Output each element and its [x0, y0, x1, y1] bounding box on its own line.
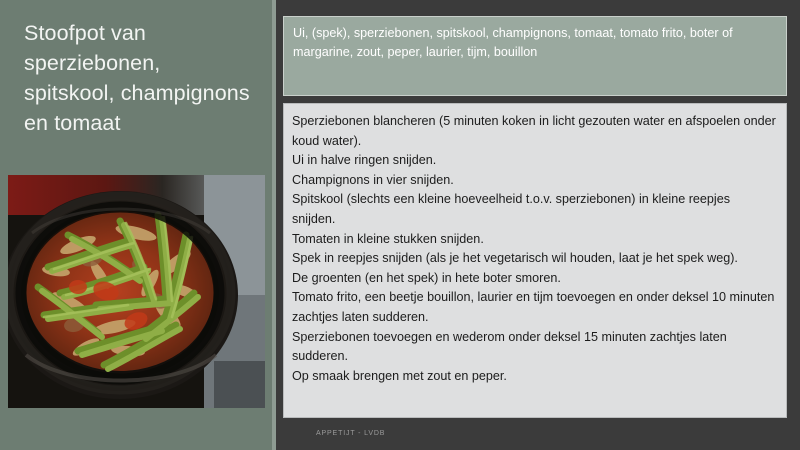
- recipe-photo-image: [8, 175, 265, 408]
- instruction-step: Tomato frito, een beetje bouillon, lauri…: [292, 288, 776, 327]
- instruction-step: Op smaak brengen met zout en peper.: [292, 367, 776, 387]
- instruction-step: Spitskool (slechts een kleine hoeveelhei…: [292, 190, 776, 229]
- recipe-photo: [8, 175, 265, 408]
- instruction-step: Tomaten in kleine stukken snijden.: [292, 230, 776, 250]
- instruction-step: De groenten (en het spek) in hete boter …: [292, 269, 776, 289]
- instruction-step: Sperziebonen blancheren (5 minuten koken…: [292, 112, 776, 151]
- slide-footer: APPETIJT - LVDB: [316, 430, 385, 437]
- instruction-step: Spek in reepjes snijden (als je het vege…: [292, 249, 776, 269]
- instructions-text: Sperziebonen blancheren (5 minuten koken…: [292, 112, 776, 386]
- instruction-step: Sperziebonen toevoegen en wederom onder …: [292, 328, 776, 367]
- slide: Stoofpot van sperziebonen, spitskool, ch…: [0, 0, 800, 450]
- instructions-box: Sperziebonen blancheren (5 minuten koken…: [283, 103, 787, 418]
- ingredients-text: Ui, (spek), sperziebonen, spitskool, cha…: [293, 24, 777, 62]
- panel-edge-divider: [272, 0, 276, 450]
- page-title: Stoofpot van sperziebonen, spitskool, ch…: [24, 18, 254, 138]
- instruction-step: Champignons in vier snijden.: [292, 171, 776, 191]
- instruction-step: Ui in halve ringen snijden.: [292, 151, 776, 171]
- ingredients-box: Ui, (spek), sperziebonen, spitskool, cha…: [283, 16, 787, 96]
